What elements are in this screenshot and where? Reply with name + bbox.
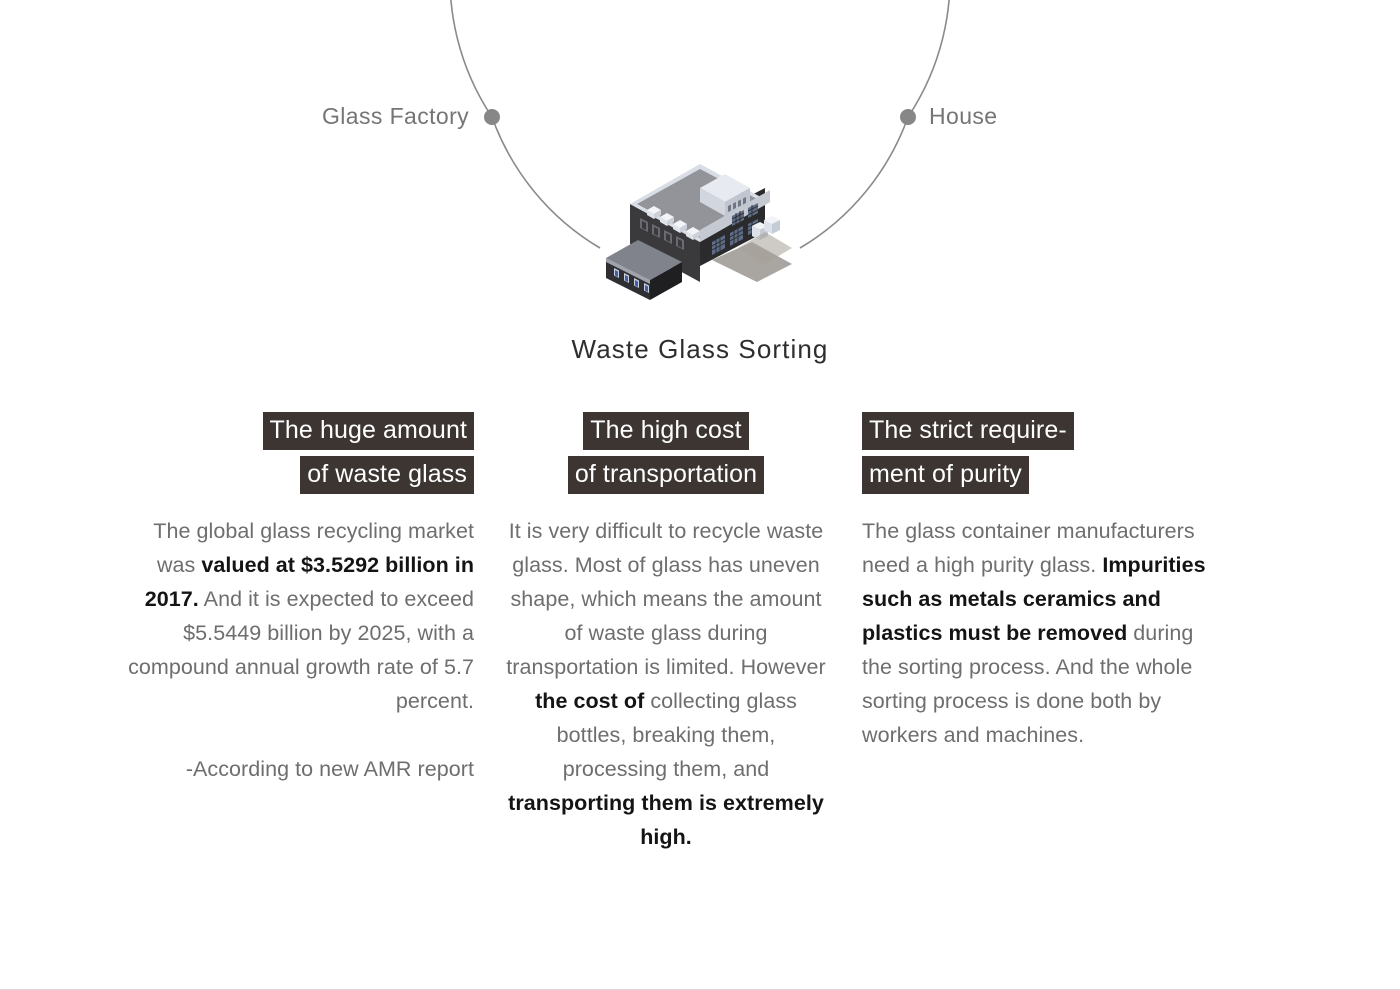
glass-factory-building-icon [592,160,822,310]
column-transport-cost: The high cost of transportation It is ve… [506,412,826,854]
arc-left-lower-path [492,117,600,248]
column-waste-amount: The huge amount of waste glass The globa… [126,412,474,854]
node-dot-glass-factory[interactable] [484,109,500,125]
body-rich-text: The glass container manufacturers need a… [862,519,1206,747]
columns-container: The huge amount of waste glass The globa… [0,412,1400,854]
column-heading: The huge amount of waste glass [126,412,474,500]
column-body: The glass container manufacturers need a… [862,514,1212,752]
heading-line-2: ment of purity [862,456,1029,494]
arc-upper-path [450,0,950,117]
column-body: It is very difficult to recycle waste gl… [506,514,826,854]
column-body: The global glass recycling market was va… [126,514,474,786]
heading-line-1: The high cost [583,412,748,450]
infographic-page: Glass Factory House [0,0,1400,990]
column-heading: The strict require- ment of purity [862,412,1212,500]
node-dot-house[interactable] [900,109,916,125]
column-heading: The high cost of transportation [506,412,826,500]
node-label-glass-factory: Glass Factory [322,105,469,128]
heading-line-1: The strict require- [862,412,1074,450]
heading-line-2: of transportation [568,456,764,494]
heading-line-1: The huge amount [263,412,474,450]
body-rich-text: It is very difficult to recycle waste gl… [506,519,826,849]
node-label-house: House [929,105,997,128]
page-title: Waste Glass Sorting [0,334,1400,365]
column-purity-requirement: The strict require- ment of purity The g… [862,412,1212,854]
column-attribution: -According to new AMR report [126,752,474,786]
heading-line-2: of waste glass [300,456,474,494]
body-rich-text: The global glass recycling market was va… [128,519,474,713]
